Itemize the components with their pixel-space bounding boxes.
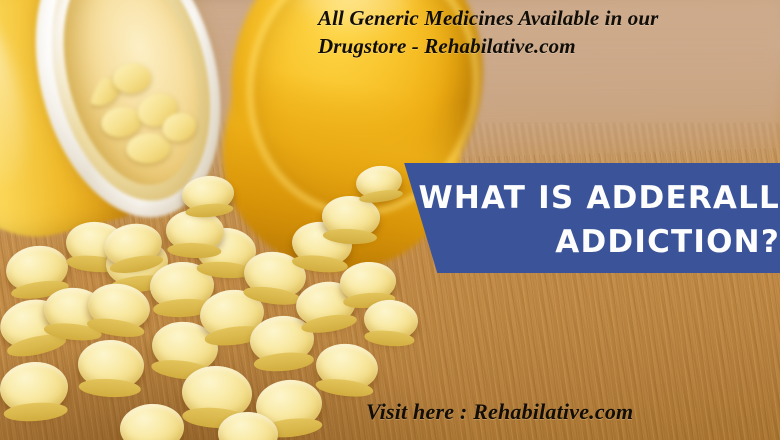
top-headline: All Generic Medicines Available in our D… [318,4,770,61]
bottom-cta-text: Visit here : Rehabilative.com [366,399,633,425]
top-headline-line-2: Drugstore - Rehabilative.com [318,32,770,60]
top-headline-line-1: All Generic Medicines Available in our [318,4,770,32]
banner-title-line-1: WHAT IS ADDERALL [400,176,780,220]
promo-image-canvas: All Generic Medicines Available in our D… [0,0,780,440]
banner-title-line-2: ADDICTION? [400,220,780,264]
banner-title: WHAT IS ADDERALL ADDICTION? [400,160,780,276]
